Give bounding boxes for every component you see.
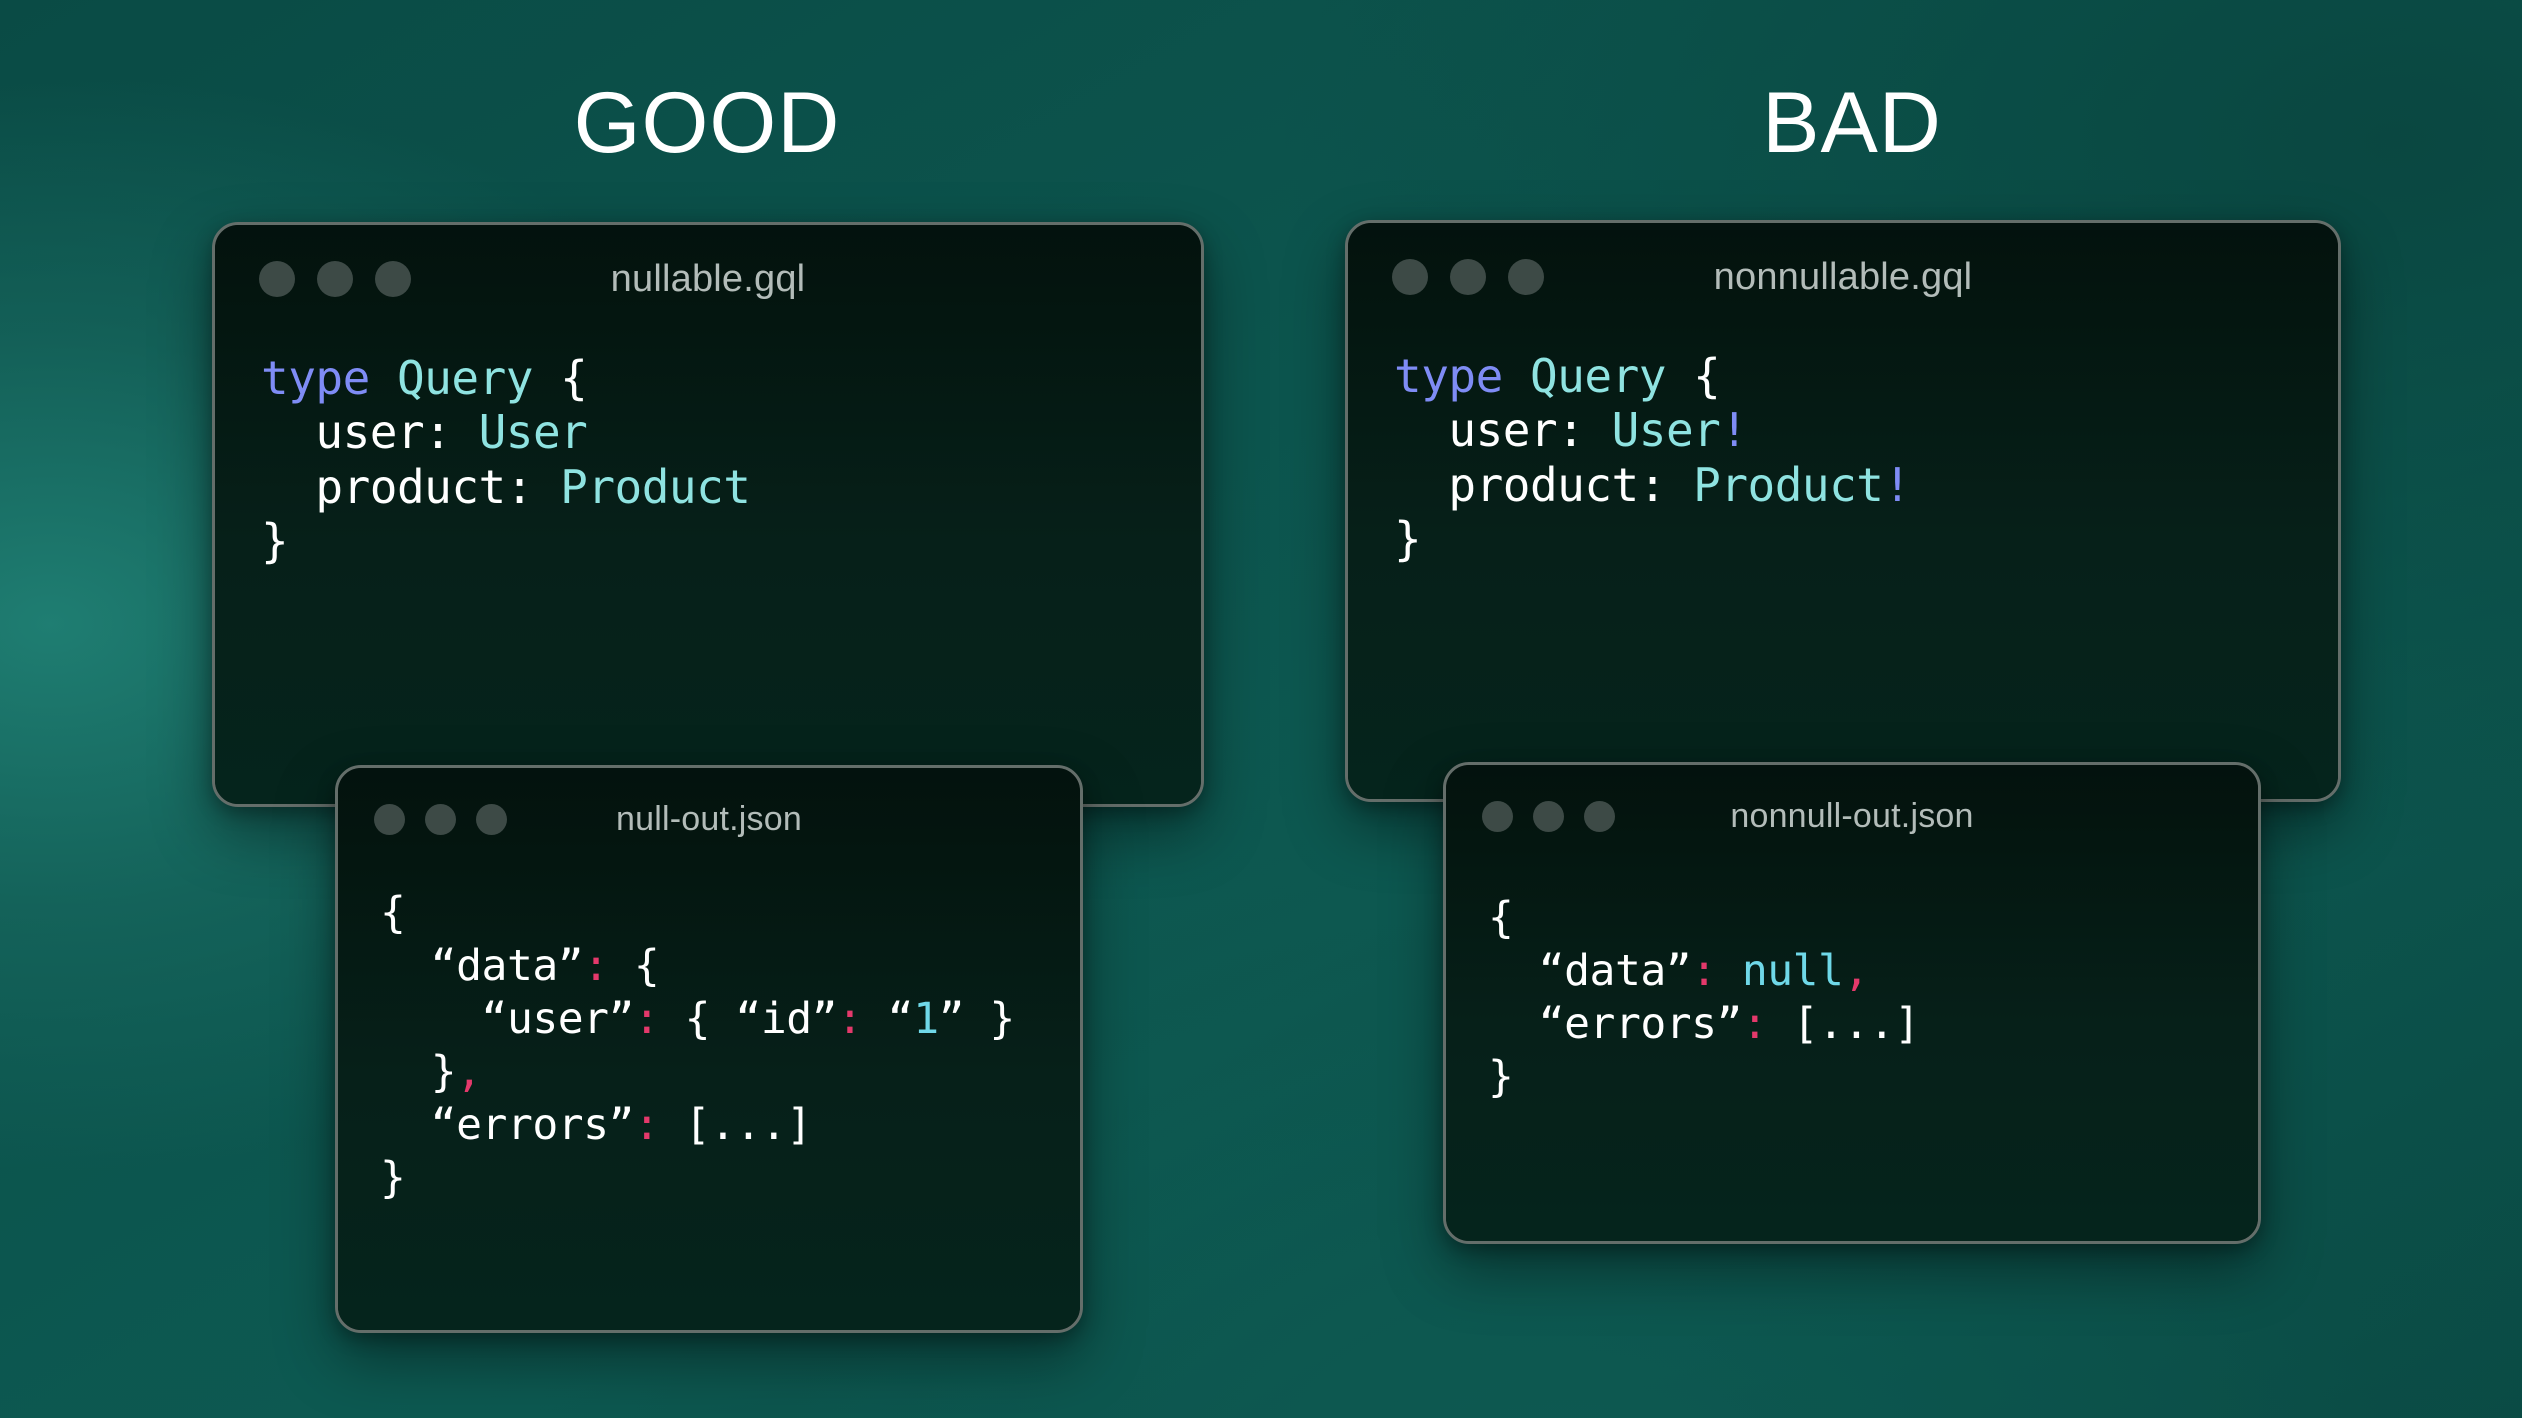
code-token-keyword: type	[261, 351, 370, 405]
maximize-dot[interactable]	[476, 804, 507, 835]
code-token-colon: :	[1691, 946, 1716, 996]
code-token-punctuation: {	[380, 888, 405, 938]
heading-bad: BAD	[1552, 80, 2152, 166]
code-token-punctuation: product:	[1394, 458, 1693, 512]
code-token-punctuation: {	[609, 941, 660, 991]
traffic-lights	[374, 804, 507, 835]
code-token-key: “data”	[1488, 946, 1691, 996]
code-line: “data”: null,	[1488, 946, 2234, 999]
code-token-colon: :	[1742, 999, 1767, 1049]
code-token-colon: :	[634, 994, 659, 1044]
code-token-punctuation: {	[1666, 349, 1720, 403]
code-line: type Query {	[1394, 349, 2314, 403]
code-line: “errors”: [...]	[380, 1100, 1056, 1153]
code-token-punctuation: user:	[1394, 403, 1612, 457]
code-token-punctuation: {	[659, 994, 735, 1044]
close-dot[interactable]	[374, 804, 405, 835]
code-token-plain	[370, 351, 397, 405]
code-token-key: “user”	[380, 994, 634, 1044]
traffic-lights	[1392, 259, 1544, 295]
window-body: null-out.json { “data”: { “user”: { “id”…	[338, 768, 1080, 1330]
code-token-type_name: Product	[560, 460, 750, 514]
close-dot[interactable]	[1392, 259, 1428, 295]
code-line: }	[1488, 1052, 2234, 1105]
code-token-type_name: Product	[1693, 458, 1883, 512]
code-window-nonnull-out-json[interactable]: nonnull-out.json { “data”: null, “errors…	[1443, 762, 2261, 1244]
code-token-punctuation: }	[1488, 1052, 1513, 1102]
traffic-lights	[259, 261, 411, 297]
code-token-colon: :	[634, 1100, 659, 1150]
minimize-dot[interactable]	[317, 261, 353, 297]
code-token-punctuation: [...]	[1767, 999, 1919, 1049]
code-token-punctuation: {	[533, 351, 587, 405]
code-token-punctuation: }	[261, 514, 288, 568]
code-token-punctuation: }	[380, 1047, 456, 1097]
code-token-colon: :	[583, 941, 608, 991]
code-token-punctuation: }	[380, 1153, 405, 1203]
code-token-colon: :	[837, 994, 862, 1044]
code-token-punctuation: [...]	[659, 1100, 811, 1150]
code-token-key: “data”	[380, 941, 583, 991]
heading-good: GOOD	[407, 80, 1007, 166]
code-token-comma: ,	[1843, 946, 1868, 996]
code-token-punctuation: user:	[261, 405, 479, 459]
code-token-type_name: User	[1612, 403, 1721, 457]
window-titlebar[interactable]: nonnull-out.json	[1446, 765, 2258, 867]
code-token-plain	[1503, 349, 1530, 403]
code-line: }	[380, 1153, 1056, 1206]
window-body: nonnullable.gql type Query { user: User!…	[1348, 223, 2338, 799]
code-content: { “data”: { “user”: { “id”: “1” } }, “er…	[380, 888, 1056, 1206]
maximize-dot[interactable]	[1584, 801, 1615, 832]
code-line: product: Product!	[1394, 458, 2314, 512]
code-window-null-out-json[interactable]: null-out.json { “data”: { “user”: { “id”…	[335, 765, 1083, 1333]
maximize-dot[interactable]	[1508, 259, 1544, 295]
minimize-dot[interactable]	[1450, 259, 1486, 295]
code-line: {	[1488, 893, 2234, 946]
code-token-punctuation: ” }	[939, 994, 1015, 1044]
code-token-value: 1	[913, 994, 938, 1044]
code-content: type Query { user: User! product: Produc…	[1394, 349, 2314, 566]
code-token-bang: !	[1884, 458, 1911, 512]
code-line: user: User	[261, 405, 1177, 459]
minimize-dot[interactable]	[1533, 801, 1564, 832]
minimize-dot[interactable]	[425, 804, 456, 835]
close-dot[interactable]	[259, 261, 295, 297]
code-line: },	[380, 1047, 1056, 1100]
code-window-nullable-gql[interactable]: nullable.gql type Query { user: User pro…	[212, 222, 1204, 807]
code-token-key: “errors”	[380, 1100, 634, 1150]
code-line: type Query {	[261, 351, 1177, 405]
traffic-lights	[1482, 801, 1615, 832]
code-token-keyword: type	[1394, 349, 1503, 403]
maximize-dot[interactable]	[375, 261, 411, 297]
close-dot[interactable]	[1482, 801, 1513, 832]
code-token-key: “errors”	[1488, 999, 1742, 1049]
code-line: “errors”: [...]	[1488, 999, 2234, 1052]
code-token-type_name: User	[479, 405, 588, 459]
code-line: “user”: { “id”: “1” }	[380, 994, 1056, 1047]
window-body: nullable.gql type Query { user: User pro…	[215, 225, 1201, 804]
code-token-value: null	[1742, 946, 1844, 996]
code-token-type_name: Query	[397, 351, 533, 405]
code-token-punctuation: product:	[261, 460, 560, 514]
code-token-key: “id”	[735, 994, 837, 1044]
code-content: { “data”: null, “errors”: [...]}	[1488, 893, 2234, 1105]
code-token-comma: ,	[456, 1047, 481, 1097]
code-token-punctuation: “	[862, 994, 913, 1044]
code-line: product: Product	[261, 460, 1177, 514]
code-token-punctuation: {	[1488, 893, 1513, 943]
code-line: user: User!	[1394, 403, 2314, 457]
code-line: {	[380, 888, 1056, 941]
code-token-punctuation	[1717, 946, 1742, 996]
window-titlebar[interactable]: null-out.json	[338, 768, 1080, 870]
code-line: “data”: {	[380, 941, 1056, 994]
code-window-nonnullable-gql[interactable]: nonnullable.gql type Query { user: User!…	[1345, 220, 2341, 802]
code-token-bang: !	[1720, 403, 1747, 457]
code-token-type_name: Query	[1530, 349, 1666, 403]
code-content: type Query { user: User product: Product…	[261, 351, 1177, 568]
window-body: nonnull-out.json { “data”: null, “errors…	[1446, 765, 2258, 1241]
code-line: }	[261, 514, 1177, 568]
code-line: }	[1394, 512, 2314, 566]
window-titlebar[interactable]: nullable.gql	[215, 225, 1201, 333]
window-titlebar[interactable]: nonnullable.gql	[1348, 223, 2338, 331]
code-token-punctuation: }	[1394, 512, 1421, 566]
slide-canvas: GOOD BAD nullable.gql type Query { user:…	[0, 0, 2522, 1418]
